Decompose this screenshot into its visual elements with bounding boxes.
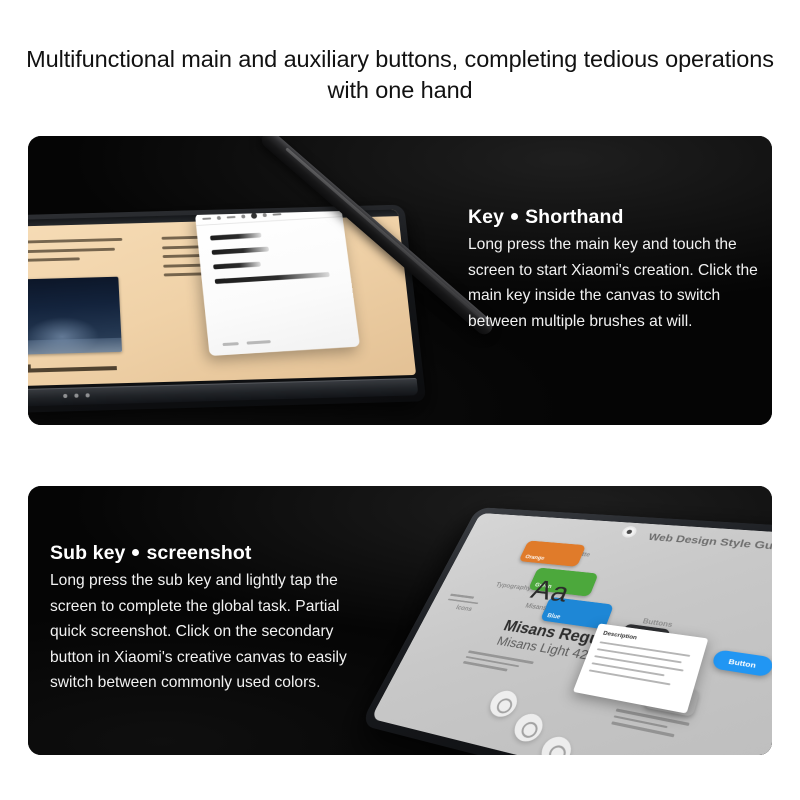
handwriting-note-card[interactable] [195,209,360,355]
panel-one-heading-tail: Shorthand [525,206,623,228]
note-footer-marks [222,340,270,346]
tablet-device-illustration [28,205,426,413]
body-text-samples [461,650,543,680]
style-guide-title: Web Design Style Guide [647,531,772,553]
feature-panel-key-shorthand: KeyShorthand Long press the main key and… [28,136,772,425]
reader-text-column-left [28,238,124,268]
panel-two-text: Sub keyscreenshot Long press the sub key… [50,542,360,696]
tablet-screen [28,209,416,386]
bullet-separator-icon [511,213,518,220]
reader-caption-text [28,362,135,373]
page-root: Multifunctional main and auxiliary butto… [0,0,800,800]
tablet-body: Web Design Style Guide Color Palette Typ… [360,507,772,755]
color-swatch-blue-label: Blue [546,613,561,620]
tablet-screen: Web Design Style Guide Color Palette Typ… [371,513,772,755]
pen-icon[interactable] [217,216,221,220]
panel-two-heading-lead: Sub key [50,542,125,564]
panel-one-body: Long press the main key and touch the sc… [468,232,758,334]
icons-column-lines [446,594,485,608]
color-swatch-orange-label: Orange [524,555,545,562]
more-icon[interactable] [272,213,281,215]
feature-panel-sub-key-screenshot: Web Design Style Guide Color Palette Typ… [28,486,772,755]
panel-two-heading: Sub keyscreenshot [50,542,360,565]
line-icon[interactable] [227,216,236,218]
icon-circle-3[interactable] [537,734,575,755]
brush-icon[interactable] [241,214,245,218]
panel-two-body: Long press the sub key and lightly tap t… [50,568,360,696]
panel-one-heading-lead: Key [468,206,504,228]
icon-circle-1[interactable] [486,689,521,720]
label-typography: Typography [495,581,533,592]
eraser-icon[interactable] [263,213,267,217]
icon-circle-2[interactable] [510,711,547,744]
handwriting-strokes [210,229,333,294]
primary-button[interactable]: Button [711,649,772,677]
speaker-dots [63,393,90,398]
reader-night-sky-photo [28,277,122,355]
page-title: Multifunctional main and auxiliary butto… [10,44,790,106]
panel-one-heading: KeyShorthand [468,206,758,229]
tablet-device-illustration: Web Design Style Guide Color Palette Typ… [360,507,772,755]
bullet-separator-icon [132,549,139,556]
dot-icon[interactable] [251,213,258,219]
tablet-body [28,205,426,413]
panel-one-text: KeyShorthand Long press the main key and… [468,206,758,334]
color-swatch-orange[interactable]: Orange [519,540,587,566]
description-popup-title: Description [602,630,638,641]
description-popup: Description [573,623,709,713]
front-camera-icon [623,527,637,536]
undo-icon[interactable] [202,217,211,219]
panel-two-heading-tail: screenshot [146,542,251,564]
note-toolbar[interactable] [195,209,343,226]
